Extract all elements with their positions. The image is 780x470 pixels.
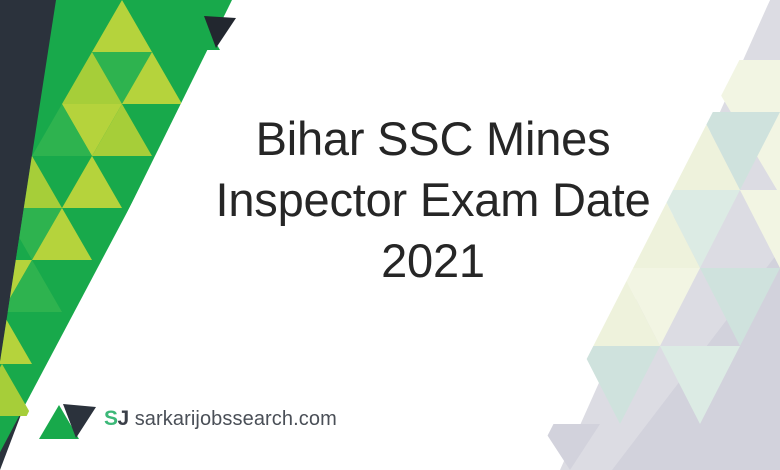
logo-initial-j: J (118, 407, 129, 431)
banner-canvas: Bihar SSC Mines Inspector Exam Date 2021… (0, 0, 780, 470)
site-wordmark: S J sarkarijobssearch.com (104, 407, 337, 431)
triangle-pair-logo-icon (36, 396, 98, 442)
logo-initial-s: S (104, 407, 118, 431)
site-logo[interactable]: S J sarkarijobssearch.com (36, 396, 337, 442)
site-name: sarkarijobssearch.com (135, 408, 337, 431)
title-block: Bihar SSC Mines Inspector Exam Date 2021 (150, 108, 716, 291)
top-triangle-pair-icon (176, 8, 238, 54)
page-title: Bihar SSC Mines Inspector Exam Date 2021 (150, 108, 716, 291)
